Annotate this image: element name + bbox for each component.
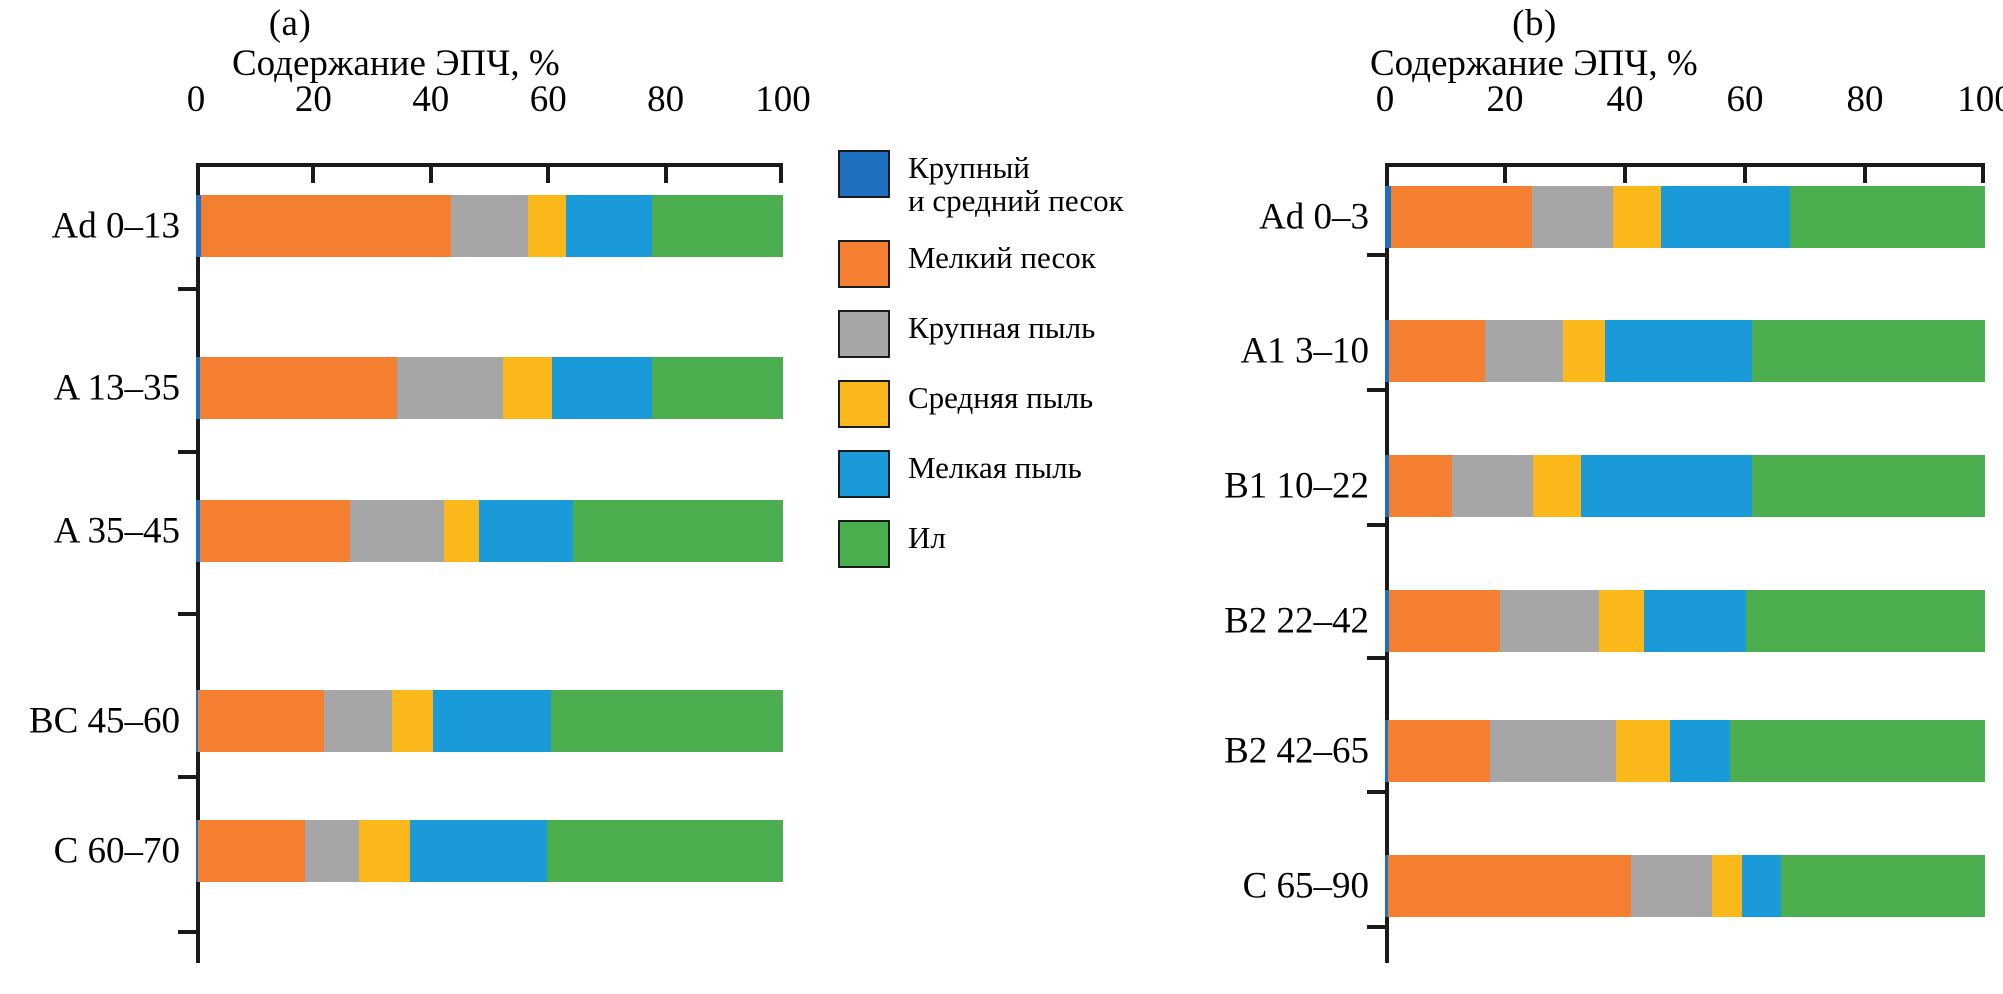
y-category-label-text: BC 45–60 (0, 700, 180, 743)
bar-segment (1790, 186, 1985, 248)
x-tick-label: 60 (1727, 78, 1764, 121)
bar-segment (451, 195, 527, 257)
bar-segment (1563, 320, 1605, 382)
bar-segment (1388, 720, 1490, 782)
bar-segment (1752, 455, 1985, 517)
y-category-label: B1 10–22 (1189, 486, 1369, 529)
bar-segment (324, 690, 392, 752)
stacked-bar (1385, 320, 1985, 382)
legend-swatch (838, 310, 890, 358)
y-category-label: Ad 0–3 (1189, 217, 1369, 260)
bar-segment (1730, 720, 1985, 782)
x-axis-tick (1623, 163, 1627, 183)
bar-segment (503, 357, 552, 419)
bar-segment (547, 820, 783, 882)
legend-swatch (838, 520, 890, 568)
legend-label: Мелкий песок (908, 240, 1096, 275)
y-axis-tick (1367, 253, 1387, 257)
panel-b-axis-title: Содержание ЭПЧ, % (1370, 42, 1698, 85)
x-axis-tick (664, 163, 668, 183)
bar-segment (198, 690, 324, 752)
x-tick-label: 100 (755, 78, 811, 121)
bar-segment (652, 357, 783, 419)
bar-segment (1746, 590, 1985, 652)
y-category-label: B2 42–65 (1189, 751, 1369, 794)
x-axis-tick (429, 163, 433, 183)
bar-segment (1613, 186, 1661, 248)
legend-swatch (838, 450, 890, 498)
bar-segment (528, 195, 567, 257)
y-category-label-text: Ad 0–13 (0, 205, 180, 248)
legend-swatch (838, 150, 890, 198)
y-category-label: BC 45–60 (0, 721, 180, 764)
bar-segment (1752, 320, 1985, 382)
y-axis-tick (178, 612, 198, 616)
bar-segment (1644, 590, 1746, 652)
legend-label: Средняя пыль (908, 380, 1093, 415)
bar-segment (350, 500, 444, 562)
x-tick-label: 40 (412, 78, 449, 121)
panel-b-top-axis (1385, 163, 1985, 167)
bar-segment (433, 690, 550, 752)
panel-a-top-axis (196, 163, 783, 167)
bar-segment (397, 357, 503, 419)
y-axis-tick (1367, 925, 1387, 929)
y-category-label-text: B1 10–22 (1189, 465, 1369, 508)
y-category-label: Ad 0–13 (0, 226, 180, 269)
bar-segment (1661, 186, 1790, 248)
y-axis-tick (1367, 790, 1387, 794)
legend-item: Крупная пыль (838, 310, 1178, 358)
stacked-bar (1385, 186, 1985, 248)
bar-segment (552, 357, 652, 419)
stacked-bar (1385, 455, 1985, 517)
y-axis-tick (1367, 388, 1387, 392)
bar-segment (1781, 855, 1985, 917)
bar-segment (392, 690, 433, 752)
panel-b-left-axis (1385, 163, 1389, 963)
x-tick-label: 60 (530, 78, 567, 121)
stacked-bar (196, 820, 783, 882)
bar-segment (551, 690, 783, 752)
legend-label: Ил (908, 520, 946, 555)
x-axis-tick (779, 163, 783, 183)
legend-swatch (838, 380, 890, 428)
bar-segment (1532, 186, 1613, 248)
bar-segment (305, 820, 359, 882)
y-category-label-text: A 35–45 (0, 510, 180, 553)
bar-segment (1452, 455, 1533, 517)
legend-item: Ил (838, 520, 1178, 568)
x-tick-label: 100 (1957, 78, 2003, 121)
x-tick-label: 40 (1607, 78, 1644, 121)
bar-segment (573, 500, 783, 562)
x-tick-label: 80 (647, 78, 684, 121)
bar-segment (1389, 590, 1500, 652)
panel-b: (b) Содержание ЭПЧ, % 020406080100 Ad 0–… (1190, 0, 2003, 994)
y-category-label-text: A1 3–10 (1189, 330, 1369, 373)
legend-item: Крупный и средний песок (838, 150, 1178, 218)
bar-segment (479, 500, 573, 562)
y-category-label-text: C 60–70 (0, 830, 180, 873)
bar-segment (1389, 455, 1452, 517)
legend-label: Мелкая пыль (908, 450, 1082, 485)
panel-a: (a) Содержание ЭПЧ, % 020406080100 Ad 0–… (0, 0, 800, 994)
panel-a-plot-area: Ad 0–13A 13–35A 35–45BC 45–60C 60–70 (196, 163, 783, 963)
legend-label: Крупная пыль (908, 310, 1095, 345)
bar-segment (1712, 855, 1742, 917)
bar-segment (1631, 855, 1712, 917)
y-axis-tick (1367, 523, 1387, 527)
y-category-label: C 65–90 (1189, 886, 1369, 929)
y-category-label: B2 22–42 (1189, 621, 1369, 664)
bar-segment (1670, 720, 1730, 782)
bar-segment (198, 820, 305, 882)
x-tick-label: 20 (295, 78, 332, 121)
bar-segment (1388, 855, 1631, 917)
y-category-label-text: C 65–90 (1189, 865, 1369, 908)
x-tick-label: 0 (187, 78, 206, 121)
legend-label: Крупный и средний песок (908, 150, 1124, 218)
panel-a-axis-title: Содержание ЭПЧ, % (232, 42, 560, 85)
y-category-label-text: A 13–35 (0, 367, 180, 410)
bar-segment (1500, 590, 1599, 652)
x-axis-tick (1981, 163, 1985, 183)
x-tick-label: 20 (1487, 78, 1524, 121)
bar-segment (652, 195, 783, 257)
bar-segment (1605, 320, 1752, 382)
bar-segment (1742, 855, 1781, 917)
legend-item: Средняя пыль (838, 380, 1178, 428)
y-category-label: A 13–35 (0, 388, 180, 431)
y-category-label: A 35–45 (0, 531, 180, 574)
legend-item: Мелкая пыль (838, 450, 1178, 498)
stacked-bar (196, 500, 783, 562)
y-category-label-text: Ad 0–3 (1189, 196, 1369, 239)
y-category-label-text: B2 42–65 (1189, 730, 1369, 773)
stacked-bar (1385, 720, 1985, 782)
bar-segment (1391, 186, 1532, 248)
bar-segment (1616, 720, 1670, 782)
x-axis-tick (1863, 163, 1867, 183)
stacked-bar (196, 690, 783, 752)
x-axis-tick (1743, 163, 1747, 183)
y-axis-tick (178, 287, 198, 291)
bar-segment (566, 195, 652, 257)
legend-swatch (838, 240, 890, 288)
legend-item: Мелкий песок (838, 240, 1178, 288)
legend: Крупный и средний песокМелкий песокКрупн… (838, 150, 1178, 590)
y-category-label: A1 3–10 (1189, 351, 1369, 394)
bar-segment (444, 500, 479, 562)
y-axis-tick (178, 930, 198, 934)
y-axis-tick (1367, 656, 1387, 660)
bar-segment (1389, 320, 1485, 382)
bar-segment (410, 820, 547, 882)
bar-segment (1490, 720, 1616, 782)
x-tick-label: 0 (1376, 78, 1395, 121)
bar-segment (1581, 455, 1752, 517)
bar-segment (1485, 320, 1563, 382)
bar-segment (200, 357, 398, 419)
y-category-label: C 60–70 (0, 851, 180, 894)
stacked-bar (196, 195, 783, 257)
x-axis-tick (546, 163, 550, 183)
panel-b-plot-area: Ad 0–3A1 3–10B1 10–22B2 22–42B2 42–65C 6… (1385, 163, 1985, 963)
stacked-bar (1385, 855, 1985, 917)
bar-segment (201, 195, 452, 257)
y-axis-tick (178, 450, 198, 454)
stacked-bar (196, 357, 783, 419)
stacked-bar (1385, 590, 1985, 652)
x-axis-tick (311, 163, 315, 183)
stacked-bar-figure: (a) Содержание ЭПЧ, % 020406080100 Ad 0–… (0, 0, 2003, 994)
bar-segment (359, 820, 409, 882)
bar-segment (1599, 590, 1644, 652)
x-axis-tick (1503, 163, 1507, 183)
bar-segment (200, 500, 350, 562)
y-axis-tick (178, 775, 198, 779)
panel-a-letter: (a) (0, 2, 690, 45)
x-tick-label: 80 (1847, 78, 1884, 121)
bar-segment (1533, 455, 1581, 517)
panel-b-letter: (b) (1128, 2, 1941, 45)
y-category-label-text: B2 22–42 (1189, 600, 1369, 643)
